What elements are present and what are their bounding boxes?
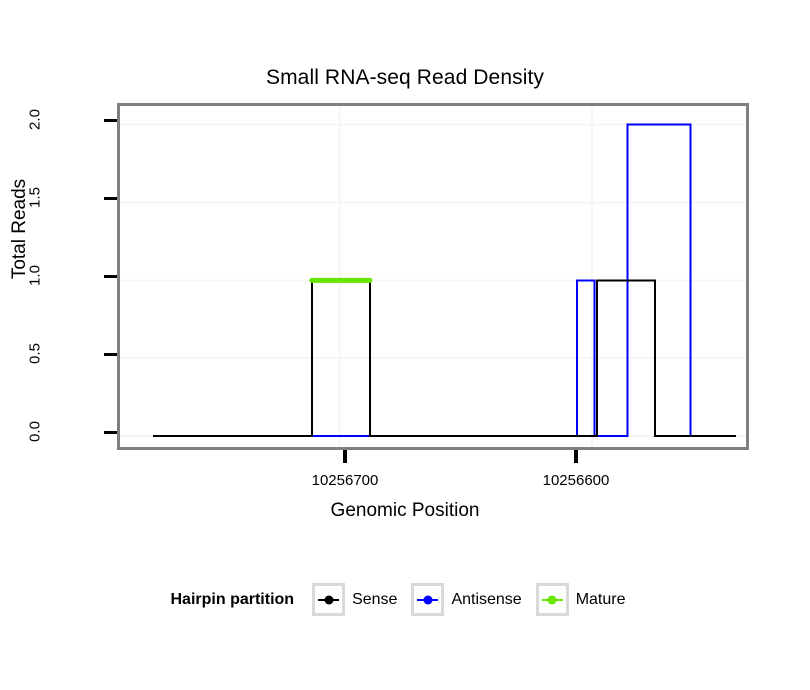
legend-item-antisense[interactable]: Antisense bbox=[411, 583, 521, 616]
y-tick-mark bbox=[104, 275, 117, 278]
line-dot-key-icon bbox=[411, 583, 444, 616]
legend-label: Antisense bbox=[451, 591, 521, 609]
x-tick-mark bbox=[574, 450, 578, 463]
line-dot-key-icon bbox=[536, 583, 569, 616]
y-tick-label: 0.0 bbox=[27, 402, 44, 462]
y-tick-mark bbox=[104, 119, 117, 122]
legend: Hairpin partition Sense Antisense Mature bbox=[0, 583, 810, 616]
legend-item-mature[interactable]: Mature bbox=[536, 583, 626, 616]
plot-area bbox=[120, 106, 746, 447]
y-tick-label: 1.0 bbox=[27, 246, 44, 306]
line-dot-key-icon bbox=[312, 583, 345, 616]
x-axis-title: Genomic Position bbox=[0, 500, 810, 522]
y-tick-label: 1.5 bbox=[27, 168, 44, 228]
y-tick-label: 0.5 bbox=[27, 324, 44, 384]
x-tick-label: 10256700 bbox=[265, 472, 425, 489]
legend-title: Hairpin partition bbox=[171, 591, 295, 609]
legend-label: Sense bbox=[352, 591, 397, 609]
gridlines bbox=[120, 106, 746, 447]
plot-panel bbox=[117, 103, 749, 450]
chart-figure: Small RNA-seq Read Density Total Reads G… bbox=[0, 0, 810, 690]
legend-label: Mature bbox=[576, 591, 626, 609]
y-tick-mark bbox=[104, 197, 117, 200]
x-tick-label: 10256600 bbox=[496, 472, 656, 489]
y-tick-label: 2.0 bbox=[27, 90, 44, 150]
y-tick-mark bbox=[104, 431, 117, 434]
plot-svg bbox=[120, 106, 746, 447]
x-tick-mark bbox=[343, 450, 347, 463]
y-tick-mark bbox=[104, 353, 117, 356]
page-title: Small RNA-seq Read Density bbox=[0, 66, 810, 90]
legend-item-sense[interactable]: Sense bbox=[312, 583, 397, 616]
